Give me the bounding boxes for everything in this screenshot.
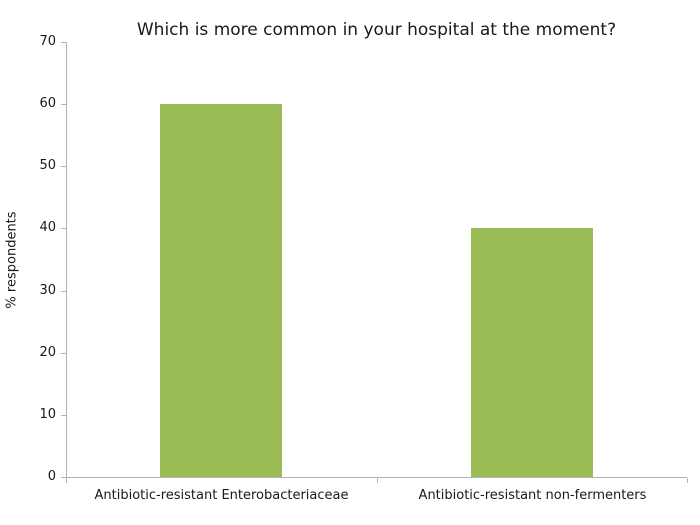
y-tick-50 xyxy=(61,166,66,167)
y-tick-label-10: 10 xyxy=(39,408,56,421)
y-tick-label-0: 0 xyxy=(48,470,56,483)
y-axis-line xyxy=(66,42,67,478)
y-tick-label-40: 40 xyxy=(39,221,56,234)
y-tick-label-30: 30 xyxy=(39,284,56,297)
bar[interactable] xyxy=(471,228,593,477)
y-axis-label: % respondents xyxy=(0,0,24,525)
y-tick-label-70: 70 xyxy=(39,35,56,48)
y-tick-label-50: 50 xyxy=(39,159,56,172)
y-tick-label-60: 60 xyxy=(39,97,56,110)
x-category-label: Antibiotic-resistant Enterobacteriaceae xyxy=(66,488,377,504)
y-tick-40 xyxy=(61,228,66,229)
y-tick-30 xyxy=(61,291,66,292)
chart-canvas: Which is more common in your hospital at… xyxy=(0,0,700,525)
y-tick-10 xyxy=(61,415,66,416)
chart-title: Which is more common in your hospital at… xyxy=(66,20,687,40)
y-axis-label-text: % respondents xyxy=(5,211,20,308)
y-tick-label-20: 20 xyxy=(39,346,56,359)
x-tick-boundary xyxy=(687,478,688,483)
x-tick-boundary xyxy=(377,478,378,483)
y-tick-70 xyxy=(61,42,66,43)
x-category-label: Antibiotic-resistant non-fermenters xyxy=(377,488,688,504)
y-tick-60 xyxy=(61,104,66,105)
bar[interactable] xyxy=(160,104,282,477)
y-tick-20 xyxy=(61,353,66,354)
x-tick-boundary xyxy=(66,478,67,483)
